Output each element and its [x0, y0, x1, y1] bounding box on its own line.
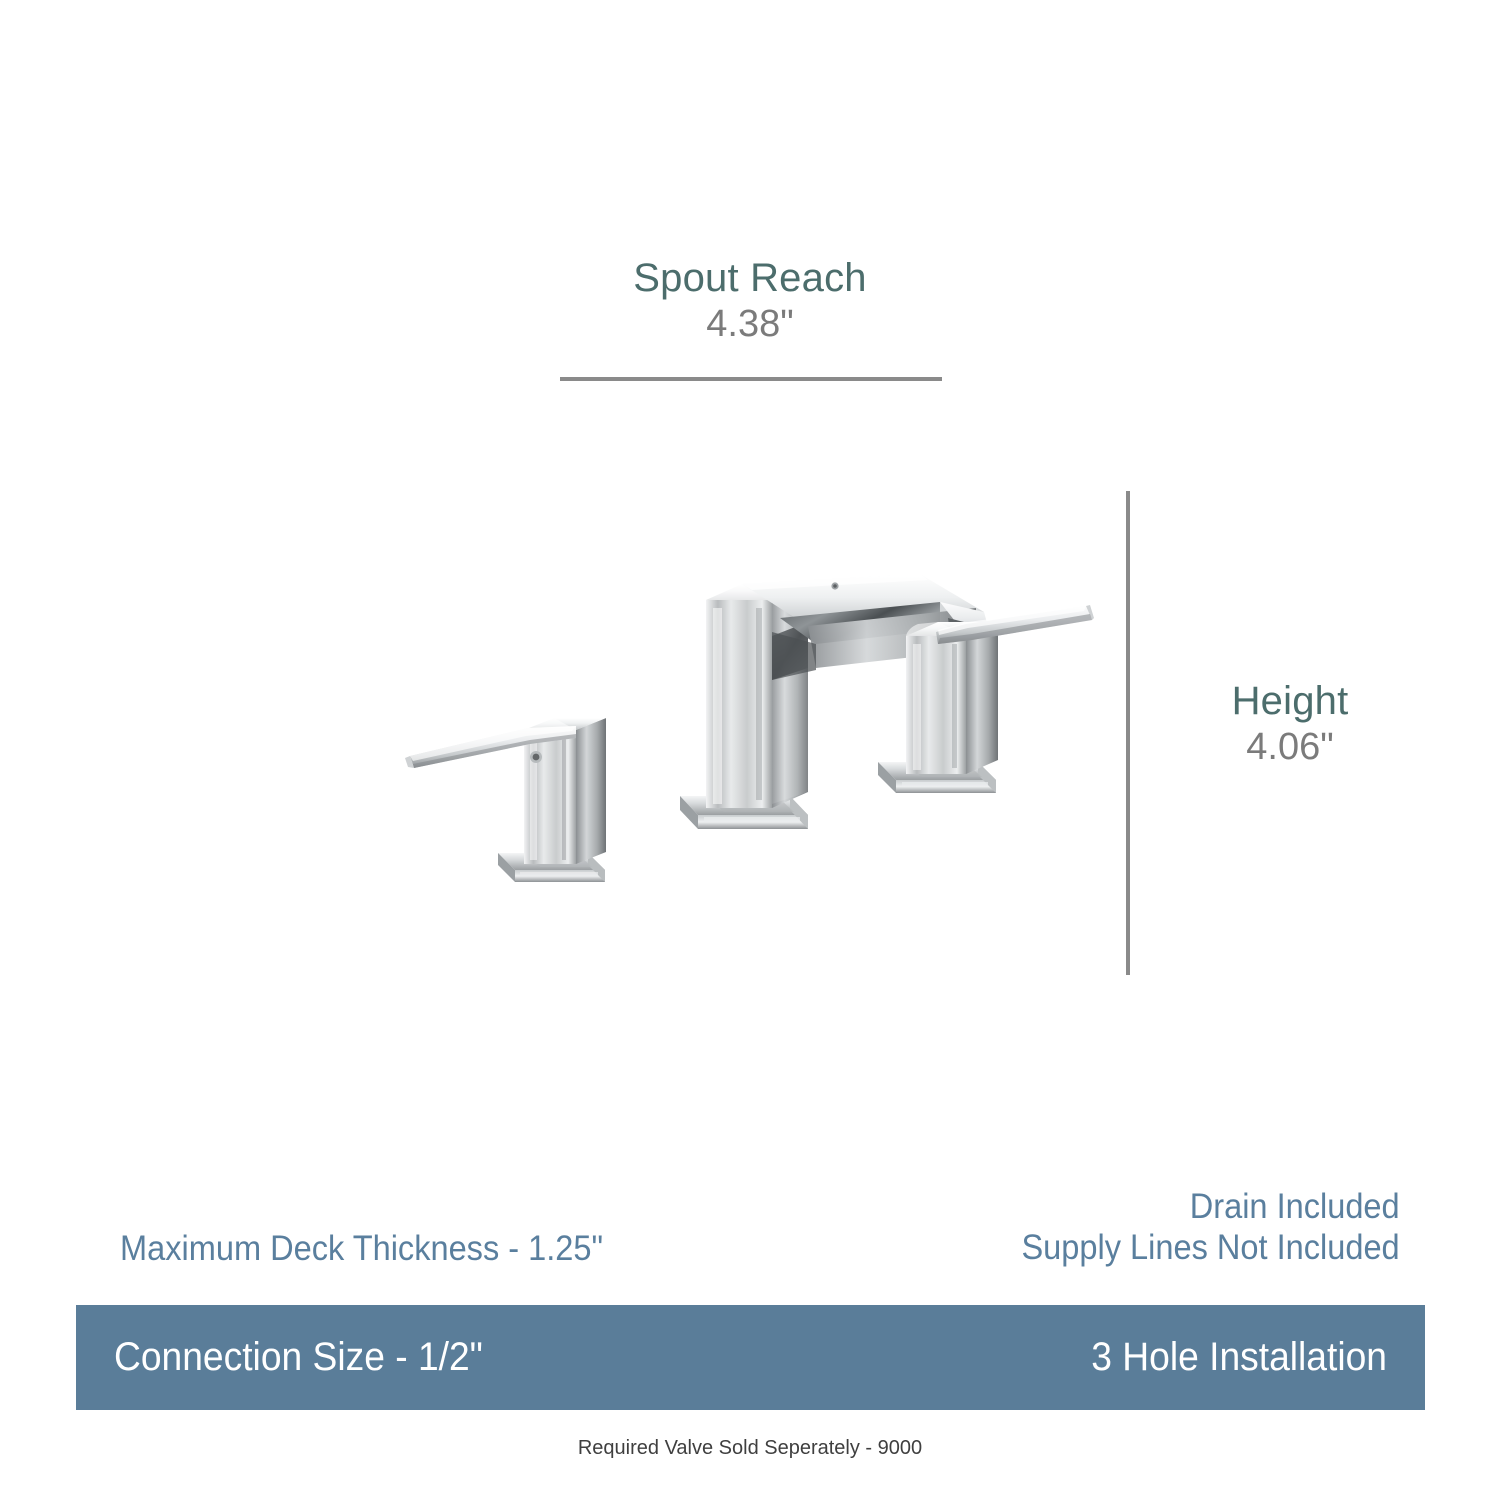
spout-reach-label: Spout Reach [450, 255, 1050, 301]
spec-supply-lines: Supply Lines Not Included [1022, 1227, 1400, 1268]
right-handle [878, 605, 1094, 793]
height-value: 4.06" [1150, 724, 1430, 772]
spec-drain-included: Drain Included [1022, 1186, 1400, 1227]
banner-hole-installation: 3 Hole Installation [1091, 1335, 1387, 1380]
height-annotation: Height 4.06" [1150, 678, 1430, 772]
left-handle [405, 718, 606, 882]
spout-reach-measurement-line [560, 377, 942, 381]
faucet-illustration-svg [380, 540, 1120, 940]
footer-note: Required Valve Sold Seperately - 9000 [0, 1437, 1500, 1460]
spout-reach-annotation: Spout Reach 4.38" [450, 255, 1050, 349]
banner-connection-size: Connection Size - 1/2" [114, 1335, 483, 1380]
height-label: Height [1150, 678, 1430, 724]
right-handle-body [906, 622, 998, 774]
faucet-product-image [380, 540, 1120, 940]
spec-deck-thickness: Maximum Deck Thickness - 1.25" [120, 1228, 603, 1269]
spout-reach-value: 4.38" [450, 301, 1050, 349]
spec-banner: Connection Size - 1/2" 3 Hole Installati… [76, 1305, 1425, 1410]
height-measurement-line [1126, 491, 1130, 975]
spec-inclusion-notes: Drain Included Supply Lines Not Included [1022, 1186, 1400, 1269]
